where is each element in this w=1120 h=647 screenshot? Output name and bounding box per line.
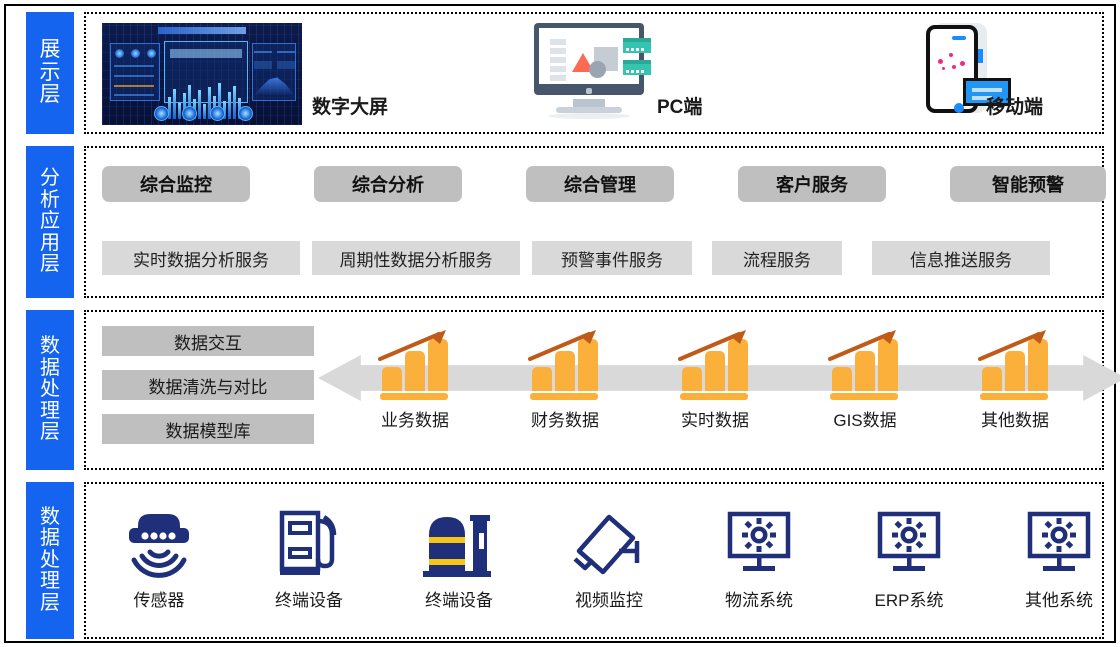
layer-tab-char: 层	[40, 422, 60, 444]
bar-chart-icon	[526, 328, 604, 400]
data-type-gis: GIS数据	[810, 328, 920, 431]
source-erp-system: ERP系统	[844, 502, 974, 611]
big-screen-dashboard-icon	[102, 23, 302, 125]
data-type-label: 财务数据	[510, 406, 620, 431]
service-box-periodic-analysis[interactable]: 周期性数据分析服务	[312, 241, 520, 275]
source-terminal-dispenser: 终端设备	[244, 502, 374, 611]
layer-data-sources: 传感器 终端设备	[16, 482, 1104, 639]
data-type-label: 其他数据	[960, 406, 1070, 431]
layer-tab-char: 层	[40, 84, 61, 107]
trend-up-arrow-icon	[678, 328, 750, 364]
app-pill-comprehensive-monitoring[interactable]: 综合监控	[102, 166, 250, 202]
layer-tab-char: 分	[40, 168, 60, 190]
monitor-gear-icon	[722, 508, 796, 578]
app-pill-label: 客户服务	[776, 171, 848, 197]
process-box-label: 数据清洗与对比	[149, 373, 268, 398]
layer-tab-char: 据	[40, 358, 60, 380]
data-type-label: 业务数据	[360, 406, 470, 431]
layer-tab-char: 层	[40, 254, 60, 276]
data-type-other: 其他数据	[960, 328, 1070, 431]
app-pill-customer-service[interactable]: 客户服务	[738, 166, 886, 202]
cctv-camera-icon	[567, 507, 651, 579]
source-label: 终端设备	[244, 586, 374, 611]
app-pill-comprehensive-analysis[interactable]: 综合分析	[314, 166, 462, 202]
presentation-label-big-screen: 数字大屏	[312, 92, 388, 119]
source-video-surveillance: 视频监控	[544, 502, 674, 611]
source-label: 传感器	[94, 586, 224, 611]
service-box-process[interactable]: 流程服务	[712, 241, 842, 275]
layer-tab-data-sources: 数 据 处 理 层	[26, 482, 74, 639]
app-pill-label: 综合监控	[140, 171, 212, 197]
data-type-realtime: 实时数据	[660, 328, 770, 431]
source-label: 物流系统	[694, 586, 824, 611]
presentation-label-mobile: 移动端	[986, 92, 1043, 119]
fuel-dispenser-icon	[272, 507, 346, 579]
service-box-label: 周期性数据分析服务	[340, 246, 493, 271]
storage-tank-icon	[419, 507, 499, 579]
process-box-data-interaction[interactable]: 数据交互	[102, 326, 314, 356]
source-label: 视频监控	[544, 586, 674, 611]
layer-tab-char: 展	[40, 39, 61, 62]
layer-presentation: 数字大屏 PC端	[16, 12, 1104, 134]
data-type-business: 业务数据	[360, 328, 470, 431]
source-label: 其他系统	[994, 586, 1120, 611]
layer-analysis-application: 综合监控 综合分析 综合管理 客户服务 智能预警 实时数据分析服务 周期性数据分…	[16, 146, 1104, 298]
layer-tab-char: 数	[40, 336, 60, 358]
layer-tab-char: 示	[40, 62, 61, 85]
layer-tab-char: 数	[40, 507, 60, 529]
diagram-frame: 数字大屏 PC端	[4, 4, 1116, 643]
bar-chart-icon	[826, 328, 904, 400]
service-box-label: 预警事件服务	[561, 246, 663, 271]
service-box-label: 流程服务	[743, 246, 811, 271]
layer-tab-char: 处	[40, 550, 60, 572]
layer-tab-char: 据	[40, 528, 60, 550]
service-box-label: 实时数据分析服务	[133, 246, 269, 271]
app-pill-comprehensive-management[interactable]: 综合管理	[526, 166, 674, 202]
data-type-label: GIS数据	[810, 406, 920, 431]
presentation-label-pc: PC端	[657, 92, 702, 119]
app-pill-label: 综合管理	[564, 171, 636, 197]
layer-data-sources-body: 传感器 终端设备	[84, 482, 1104, 639]
service-box-realtime-analysis[interactable]: 实时数据分析服务	[102, 241, 300, 275]
source-label: 终端设备	[394, 586, 524, 611]
service-box-label: 信息推送服务	[910, 246, 1012, 271]
process-box-data-cleaning[interactable]: 数据清洗与对比	[102, 370, 314, 400]
layer-tab-data-processing: 数 据 处 理 层	[26, 310, 74, 470]
monitor-gear-icon	[1022, 508, 1096, 578]
trend-up-arrow-icon	[378, 328, 450, 364]
monitor-gear-icon	[872, 508, 946, 578]
layer-tab-presentation: 展 示 层	[26, 12, 74, 134]
desktop-monitor-icon	[534, 23, 644, 121]
layer-tab-char: 用	[40, 233, 60, 255]
bar-chart-icon	[676, 328, 754, 400]
bar-chart-icon	[376, 328, 454, 400]
app-pill-intelligent-alert[interactable]: 智能预警	[950, 166, 1106, 202]
process-box-label: 数据模型库	[166, 417, 251, 442]
source-sensor: 传感器	[94, 502, 224, 611]
process-box-label: 数据交互	[174, 329, 242, 354]
sensor-icon	[120, 508, 198, 578]
trend-up-arrow-icon	[978, 328, 1050, 364]
service-box-message-push[interactable]: 信息推送服务	[872, 241, 1050, 275]
layer-presentation-body: 数字大屏 PC端	[84, 12, 1104, 134]
process-box-data-model-repo[interactable]: 数据模型库	[102, 414, 314, 444]
data-type-label: 实时数据	[660, 406, 770, 431]
service-box-alert-event[interactable]: 预警事件服务	[532, 241, 692, 275]
layer-tab-char: 层	[40, 593, 60, 615]
app-pill-label: 智能预警	[992, 171, 1064, 197]
trend-up-arrow-icon	[528, 328, 600, 364]
layer-tab-char: 析	[40, 190, 60, 212]
source-terminal-tank: 终端设备	[394, 502, 524, 611]
bar-chart-icon	[976, 328, 1054, 400]
layer-tab-analysis-application: 分 析 应 用 层	[26, 146, 74, 298]
data-type-finance: 财务数据	[510, 328, 620, 431]
layer-tab-char: 理	[40, 401, 60, 423]
source-logistics-system: 物流系统	[694, 502, 824, 611]
source-label: ERP系统	[844, 586, 974, 611]
layer-data-processing: 数据交互 数据清洗与对比 数据模型库 业务数据	[16, 310, 1104, 470]
source-other-system: 其他系统	[994, 502, 1120, 611]
layer-tab-char: 理	[40, 571, 60, 593]
layer-data-processing-body: 数据交互 数据清洗与对比 数据模型库 业务数据	[84, 310, 1104, 470]
layer-tab-char: 应	[40, 211, 60, 233]
trend-up-arrow-icon	[828, 328, 900, 364]
app-pill-label: 综合分析	[352, 171, 424, 197]
layer-tab-char: 处	[40, 379, 60, 401]
layer-analysis-body: 综合监控 综合分析 综合管理 客户服务 智能预警 实时数据分析服务 周期性数据分…	[84, 146, 1104, 298]
